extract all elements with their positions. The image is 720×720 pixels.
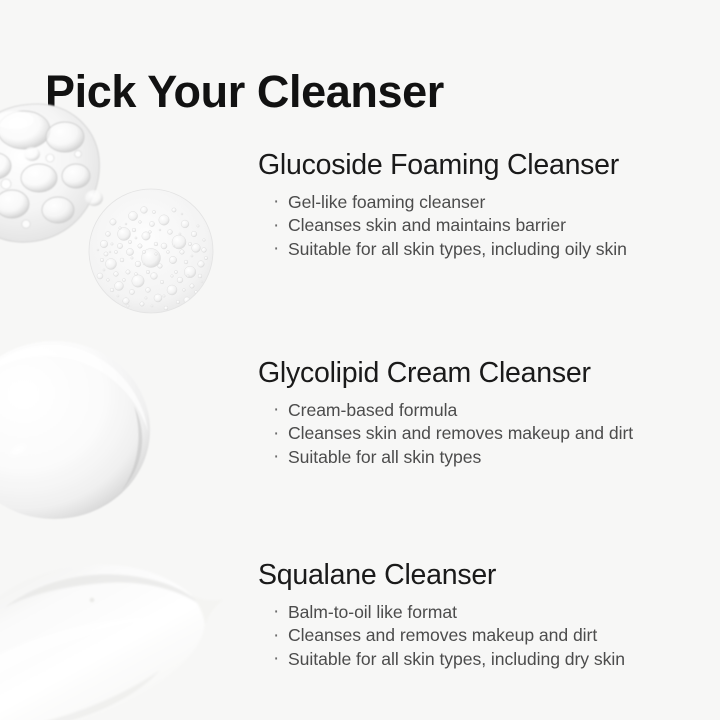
benefit-item: Suitable for all skin types xyxy=(273,446,698,469)
benefit-item: Gel-like foaming cleanser xyxy=(273,191,698,214)
foam-circle-swatch xyxy=(86,186,216,316)
benefit-item: Suitable for all skin types, including d… xyxy=(273,648,698,671)
benefit-list: Balm-to-oil like format Cleanses and rem… xyxy=(258,601,698,671)
infographic-page: Pick Your Cleanser xyxy=(0,0,720,720)
benefit-item: Balm-to-oil like format xyxy=(273,601,698,624)
balm-smear-swatch xyxy=(0,548,250,720)
cream-sphere-swatch xyxy=(0,336,162,522)
benefit-item: Cream-based formula xyxy=(273,399,698,422)
benefit-item: Cleanses skin and removes makeup and dir… xyxy=(273,422,698,445)
product-section-glycolipid-cream-cleanser: Glycolipid Cream Cleanser Cream-based fo… xyxy=(258,358,698,469)
product-section-squalane-cleanser: Squalane Cleanser Balm-to-oil like forma… xyxy=(258,560,698,671)
section-heading: Squalane Cleanser xyxy=(258,560,698,592)
section-heading: Glycolipid Cream Cleanser xyxy=(258,358,698,390)
benefit-list: Gel-like foaming cleanser Cleanses skin … xyxy=(258,191,698,261)
page-title: Pick Your Cleanser xyxy=(45,68,444,117)
section-heading: Glucoside Foaming Cleanser xyxy=(258,150,698,182)
benefit-item: Suitable for all skin types, including o… xyxy=(273,238,698,261)
product-section-glucoside-foaming-cleanser: Glucoside Foaming Cleanser Gel-like foam… xyxy=(258,150,698,261)
benefit-item: Cleanses and removes makeup and dirt xyxy=(273,624,698,647)
benefit-item: Cleanses skin and maintains barrier xyxy=(273,214,698,237)
benefit-list: Cream-based formula Cleanses skin and re… xyxy=(258,399,698,469)
